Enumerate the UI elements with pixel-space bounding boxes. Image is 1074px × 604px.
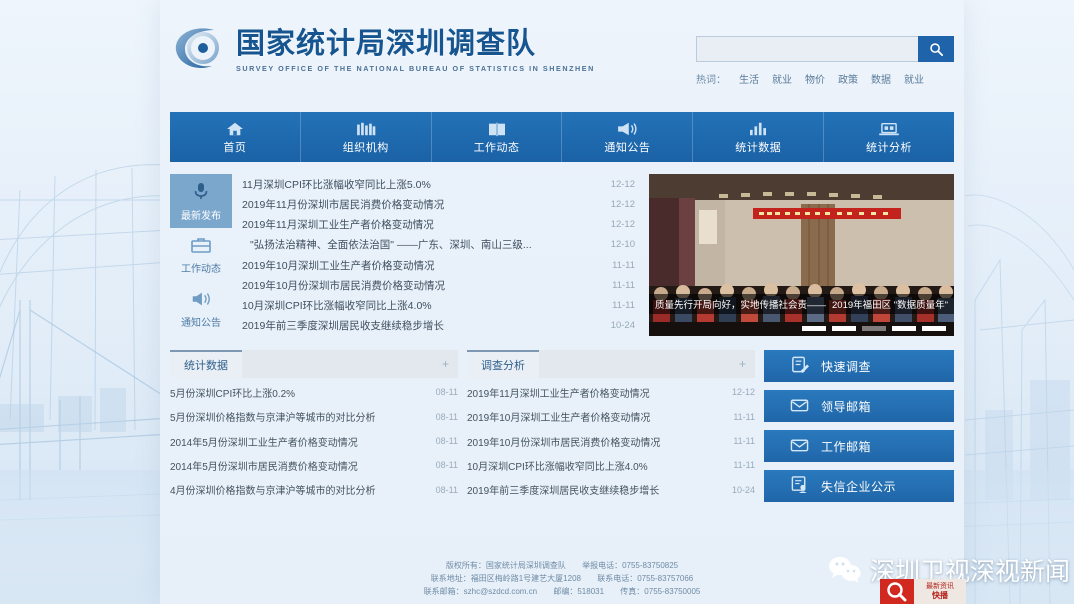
nav-label-announcements: 通知公告 — [604, 139, 650, 155]
news-item-date: 12-12 — [601, 199, 635, 210]
footer-report-phone: 举报电话：0755-83750825 — [582, 561, 678, 570]
carousel-dot-1[interactable] — [802, 326, 826, 331]
panel-list: 5月份深圳CPI环比上涨0.2% 08-11 5月份深圳价格指数与京津沪等城市的… — [170, 378, 458, 502]
carousel-caption: 质量先行开局向好，实地传播社会责—— — [655, 297, 826, 311]
site-page: 国家统计局深圳调查队 SURVEY OFFICE OF THE NATIONAL… — [160, 0, 964, 604]
news-item-title: 2019年10月深圳工业生产者价格变动情况 — [242, 258, 601, 273]
panel-tab-label: 调查分析 — [481, 357, 525, 373]
carousel-dot-3[interactable] — [862, 326, 886, 331]
nav-item-statistics-analysis[interactable]: 统计分析 — [824, 112, 954, 162]
news-item-title: 2019年11月份深圳市居民消费价格变动情况 — [242, 197, 601, 212]
panel-row-date: 08-11 — [426, 436, 458, 446]
bottom-content-block: 统计数据 + 5月份深圳CPI环比上涨0.2% 08-11 5月份深圳价格指数与… — [170, 350, 954, 502]
speaker-icon — [190, 290, 212, 311]
side-tab-work-news[interactable]: 工作动态 — [170, 228, 232, 282]
panel-row-date: 08-11 — [426, 412, 458, 422]
badge-text: 最新资讯 快播 — [914, 582, 966, 601]
panel-row-title: 10月深圳CPI环比涨幅收窄同比上涨4.0% — [467, 458, 723, 473]
hot-keyword-5[interactable]: 就业 — [904, 71, 924, 86]
panel-row-title: 2019年10月份深圳市居民消费价格变动情况 — [467, 434, 723, 449]
leader-mailbox-button[interactable]: 领导邮箱 — [764, 390, 954, 422]
site-logo[interactable]: 国家统计局深圳调查队 SURVEY OFFICE OF THE NATIONAL… — [170, 24, 595, 74]
panel-survey-analysis: 调查分析 + 2019年11月深圳工业生产者价格变动情况 12-12 2019年… — [467, 350, 755, 502]
quick-action-buttons: 快速调查 领导邮箱 工作邮箱 — [764, 350, 954, 502]
panel-row-title: 2019年前三季度深圳居民收支继续稳步增长 — [467, 482, 723, 497]
news-item[interactable]: 2019年11月份深圳市居民消费价格变动情况 12-12 — [242, 194, 635, 214]
site-header: 国家统计局深圳调查队 SURVEY OFFICE OF THE NATIONAL… — [160, 0, 964, 112]
nav-label-organization: 组织机构 — [343, 139, 389, 155]
hot-keywords: 热词： 生活 就业 物价 政策 数据 就业 — [696, 71, 954, 86]
bar-chart-icon — [748, 120, 768, 137]
badge-bottom-label: 快播 — [932, 591, 948, 601]
news-item-date: 11-11 — [601, 300, 635, 311]
news-item[interactable]: 2019年11月深圳工业生产者价格变动情况 12-12 — [242, 215, 635, 235]
carousel-caption-right: 2019年福田区 "数据质量年" — [832, 297, 948, 311]
news-item[interactable]: 10月深圳CPI环比涨幅收窄同比上涨4.0% 11-11 — [242, 296, 635, 316]
hot-keyword-3[interactable]: 政策 — [838, 71, 858, 86]
microphone-icon — [192, 181, 210, 204]
footer-copyright: 版权所有：国家统计局深圳调查队 — [446, 561, 566, 570]
image-carousel[interactable]: 质量先行开局向好，实地传播社会责—— 2019年福田区 "数据质量年" — [649, 174, 954, 336]
bureau-emblem-icon — [170, 24, 228, 74]
news-item-date: 11-11 — [601, 280, 635, 291]
nav-item-announcements[interactable]: 通知公告 — [562, 112, 693, 162]
leader-mailbox-label: 领导邮箱 — [821, 398, 871, 415]
nav-label-home: 首页 — [223, 139, 246, 155]
news-item-title: 2019年前三季度深圳居民收支继续稳步增长 — [242, 318, 601, 333]
site-title-cn: 国家统计局深圳调查队 — [236, 26, 595, 60]
carousel-dot-2[interactable] — [832, 326, 856, 331]
panel-row[interactable]: 2014年5月份深圳市居民消费价格变动情况 08-11 — [170, 453, 458, 477]
hot-keyword-2[interactable]: 物价 — [805, 71, 825, 86]
top-content-block: 最新发布 工作动态 — [170, 174, 954, 336]
carousel-caption-bar: 质量先行开局向好，实地传播社会责—— 2019年福田区 "数据质量年" — [649, 294, 954, 314]
nav-item-statistics-data[interactable]: 统计数据 — [693, 112, 824, 162]
side-tab-label-announcements: 通知公告 — [181, 314, 221, 329]
panel-row-title: 2019年10月深圳工业生产者价格变动情况 — [467, 409, 723, 424]
carousel-indicators — [802, 326, 946, 331]
badge-search-icon — [880, 579, 914, 604]
building-icon — [356, 120, 376, 137]
news-item-date: 10-24 — [601, 320, 635, 331]
panel-row-title: 5月份深圳价格指数与京津沪等城市的对比分析 — [170, 409, 426, 424]
briefcase-icon — [190, 236, 212, 257]
news-item-date: 12-12 — [601, 219, 635, 230]
panel-row-date: 12-12 — [723, 387, 755, 397]
news-item-title: 2019年10月份深圳市居民消费价格变动情况 — [242, 278, 601, 293]
hot-keyword-4[interactable]: 数据 — [871, 71, 891, 86]
book-icon — [487, 120, 507, 137]
search-input[interactable] — [696, 36, 918, 62]
panel-row-date: 11-11 — [723, 460, 755, 470]
dishonest-enterprise-label: 失信企业公示 — [821, 478, 896, 495]
panel-row-date: 10-24 — [723, 485, 755, 495]
panel-row[interactable]: 4月份深圳价格指数与京津沪等城市的对比分析 08-11 — [170, 478, 458, 502]
panel-tab-bar: + — [539, 350, 755, 378]
news-item-date: 11-11 — [601, 260, 635, 271]
envelope-icon — [790, 437, 809, 456]
panel-row-title: 2014年5月份深圳工业生产者价格变动情况 — [170, 434, 426, 449]
laptop-icon — [878, 120, 900, 137]
side-tab-latest-release[interactable]: 最新发布 — [170, 174, 232, 228]
document-person-icon — [790, 475, 809, 497]
footer-email: 联系邮箱：szhc@szdcd.com.cn — [424, 587, 537, 596]
panel-tab-statistics-data[interactable]: 统计数据 — [170, 350, 242, 378]
panel-row-title: 5月份深圳CPI环比上涨0.2% — [170, 385, 426, 400]
badge-top-label: 最新资讯 — [926, 582, 954, 591]
news-category-tabs: 最新发布 工作动态 — [170, 174, 232, 336]
panel-tab-survey-analysis[interactable]: 调查分析 — [467, 350, 539, 378]
panel-row[interactable]: 2019年前三季度深圳居民收支继续稳步增长 10-24 — [467, 478, 755, 502]
panel-more-button[interactable]: + — [739, 358, 746, 370]
panel-row[interactable]: 2019年11月深圳工业生产者价格变动情况 12-12 — [467, 380, 755, 404]
nav-label-statistics-data: 统计数据 — [735, 139, 781, 155]
hot-keyword-0[interactable]: 生活 — [739, 71, 759, 86]
quick-survey-label: 快速调查 — [821, 358, 871, 375]
panel-statistics-data: 统计数据 + 5月份深圳CPI环比上涨0.2% 08-11 5月份深圳价格指数与… — [170, 350, 458, 502]
panel-header: 统计数据 + — [170, 350, 458, 378]
news-item-title: 10月深圳CPI环比涨幅收窄同比上涨4.0% — [242, 298, 601, 313]
carousel-dot-4[interactable] — [892, 326, 916, 331]
panel-row-date: 08-11 — [426, 485, 458, 495]
news-item[interactable]: "弘扬法治精神、全面依法治国" ——广东、深圳、南山三级... 12-10 — [242, 235, 635, 255]
news-item-title: 2019年11月深圳工业生产者价格变动情况 — [242, 217, 601, 232]
panel-more-button[interactable]: + — [442, 358, 449, 370]
footer-zipcode: 邮编：518031 — [553, 587, 604, 596]
side-tab-label-work-news: 工作动态 — [181, 260, 221, 275]
panel-header: 调查分析 + — [467, 350, 755, 378]
search-icon — [929, 42, 944, 57]
footer-address: 联系地址：福田区梅岭路1号建艺大厦1208 — [431, 574, 581, 583]
nav-item-home[interactable]: 首页 — [170, 112, 301, 162]
news-item-date: 12-10 — [601, 239, 635, 250]
work-mailbox-label: 工作邮箱 — [821, 438, 871, 455]
panel-row-title: 2019年11月深圳工业生产者价格变动情况 — [467, 385, 723, 400]
side-tab-announcements[interactable]: 通知公告 — [170, 282, 232, 336]
hot-keyword-1[interactable]: 就业 — [772, 71, 792, 86]
megaphone-icon — [616, 120, 638, 137]
nav-item-work-news[interactable]: 工作动态 — [432, 112, 563, 162]
envelope-icon — [790, 397, 809, 416]
panel-row[interactable]: 10月深圳CPI环比涨幅收窄同比上涨4.0% 11-11 — [467, 453, 755, 477]
carousel-dot-5[interactable] — [922, 326, 946, 331]
news-list: 11月深圳CPI环比涨幅收窄同比上涨5.0% 12-12 2019年11月份深圳… — [242, 174, 639, 336]
panel-row-date: 11-11 — [723, 412, 755, 422]
main-navigation: 首页 组织机构 工作动态 — [170, 112, 954, 162]
home-icon — [226, 120, 244, 137]
panel-row-date: 08-11 — [426, 387, 458, 397]
site-title-en: SURVEY OFFICE OF THE NATIONAL BUREAU OF … — [236, 64, 595, 73]
nav-label-statistics-analysis: 统计分析 — [866, 139, 912, 155]
promo-badge[interactable]: 最新资讯 快播 — [880, 579, 966, 604]
footer-fax: 传真：0755-83750005 — [620, 587, 700, 596]
footer-phone: 联系电话：0755-83757066 — [597, 574, 693, 583]
nav-item-organization[interactable]: 组织机构 — [301, 112, 432, 162]
dishonest-enterprise-button[interactable]: 失信企业公示 — [764, 470, 954, 502]
hot-keywords-label: 热词： — [696, 71, 726, 86]
panel-row-date: 08-11 — [426, 460, 458, 470]
news-item-date: 12-12 — [601, 179, 635, 190]
panel-row[interactable]: 2014年5月份深圳工业生产者价格变动情况 08-11 — [170, 429, 458, 453]
panel-row-date: 11-11 — [723, 436, 755, 446]
panel-row-title: 4月份深圳价格指数与京津沪等城市的对比分析 — [170, 482, 426, 497]
news-item-title: "弘扬法治精神、全面依法治国" ——广东、深圳、南山三级... — [242, 237, 601, 252]
work-mailbox-button[interactable]: 工作邮箱 — [764, 430, 954, 462]
news-item[interactable]: 11月深圳CPI环比涨幅收窄同比上涨5.0% 12-12 — [242, 174, 635, 194]
panel-row[interactable]: 2019年10月份深圳市居民消费价格变动情况 11-11 — [467, 429, 755, 453]
search-button[interactable] — [918, 36, 954, 62]
panel-list: 2019年11月深圳工业生产者价格变动情况 12-12 2019年10月深圳工业… — [467, 378, 755, 502]
quick-survey-button[interactable]: 快速调查 — [764, 350, 954, 382]
panel-tab-label: 统计数据 — [184, 357, 228, 373]
news-item-title: 11月深圳CPI环比涨幅收窄同比上涨5.0% — [242, 177, 601, 192]
wechat-icon — [827, 555, 863, 585]
panel-tab-bar: + — [242, 350, 458, 378]
nav-label-work-news: 工作动态 — [474, 139, 520, 155]
clipboard-pen-icon — [790, 355, 809, 377]
news-item[interactable]: 2019年前三季度深圳居民收支继续稳步增长 10-24 — [242, 316, 635, 336]
panel-row[interactable]: 2019年10月深圳工业生产者价格变动情况 11-11 — [467, 404, 755, 428]
panel-row[interactable]: 5月份深圳CPI环比上涨0.2% 08-11 — [170, 380, 458, 404]
news-item[interactable]: 2019年10月深圳工业生产者价格变动情况 11-11 — [242, 255, 635, 275]
panel-row[interactable]: 5月份深圳价格指数与京津沪等城市的对比分析 08-11 — [170, 404, 458, 428]
news-item[interactable]: 2019年10月份深圳市居民消费价格变动情况 11-11 — [242, 275, 635, 295]
side-tab-label-latest-release: 最新发布 — [181, 207, 221, 222]
search-area: 热词： 生活 就业 物价 政策 数据 就业 — [696, 36, 954, 86]
panel-row-title: 2014年5月份深圳市居民消费价格变动情况 — [170, 458, 426, 473]
